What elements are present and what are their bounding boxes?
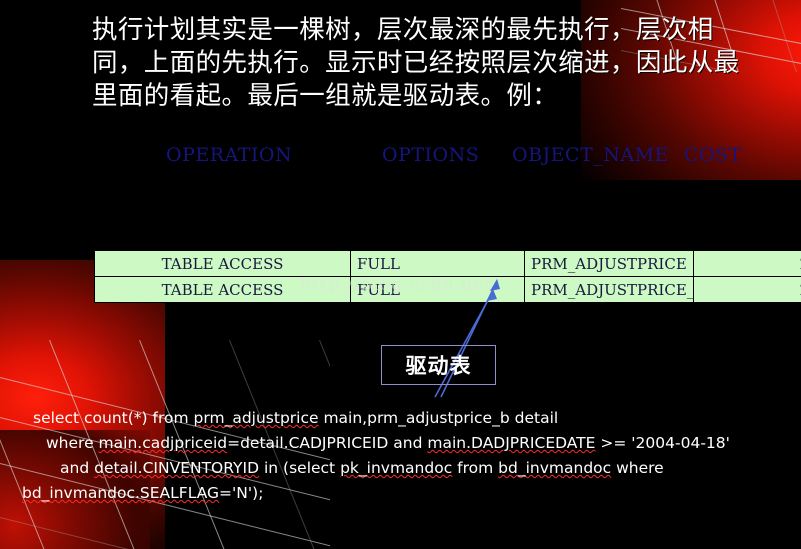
cell-options: FULL <box>351 251 525 277</box>
driving-table-callout-label: 驱动表 <box>382 346 495 384</box>
cell-operation: TABLE ACCESS <box>95 251 351 277</box>
slide-canvas: 执行计划其实是一棵树，层次最深的最先执行，层次相同，上面的先执行。显示时已经按照… <box>0 0 801 549</box>
sql-line: bd_invmandoc.SEALFLAG='N'); <box>22 481 767 506</box>
slide-heading-text: 执行计划其实是一棵树，层次最深的最先执行，层次相同，上面的先执行。显示时已经按照… <box>92 14 764 113</box>
table-row: TABLE ACCESS FULL PRM_ADJUSTPRICE_B 2 <box>95 277 801 303</box>
sql-line-text-0: select count(*) from prm_adjustprice mai… <box>33 409 558 427</box>
sql-line: where main.cadjpriceid=detail.CADJPRICEI… <box>22 431 767 456</box>
cell-cost: 2 <box>694 277 801 303</box>
sql-line: select count(*) from prm_adjustprice mai… <box>22 406 767 431</box>
plan-column-header-object-name: OBJECT_NAME <box>512 144 669 166</box>
plan-column-header-cost: COST <box>684 144 742 166</box>
sql-statement-block: select count(*) from prm_adjustprice mai… <box>22 406 767 506</box>
sql-line-text-2: and detail.CINVENTORYID in (select pk_in… <box>60 459 664 477</box>
plan-column-header-row: OPERATION OPTIONS OBJECT_NAME COST <box>92 144 764 170</box>
plan-column-header-options: OPTIONS <box>382 144 479 166</box>
table-row: TABLE ACCESS FULL PRM_ADJUSTPRICE 2 <box>95 251 801 277</box>
cell-cost: 2 <box>694 251 801 277</box>
plan-column-header-operation: OPERATION <box>166 144 292 166</box>
cell-operation: TABLE ACCESS <box>95 277 351 303</box>
execution-plan-table: TABLE ACCESS FULL PRM_ADJUSTPRICE 2 TABL… <box>94 250 801 303</box>
sql-line: and detail.CINVENTORYID in (select pk_in… <box>22 456 767 481</box>
cell-object-name: PRM_ADJUSTPRICE <box>525 251 694 277</box>
cell-object-name: PRM_ADJUSTPRICE_B <box>525 277 694 303</box>
sql-line-text-3: bd_invmandoc.SEALFLAG='N'); <box>22 484 263 502</box>
driving-table-callout-box: 驱动表 <box>381 345 496 385</box>
cell-options: FULL <box>351 277 525 303</box>
sql-line-text-1: where main.cadjpriceid=detail.CADJPRICEI… <box>46 434 730 452</box>
